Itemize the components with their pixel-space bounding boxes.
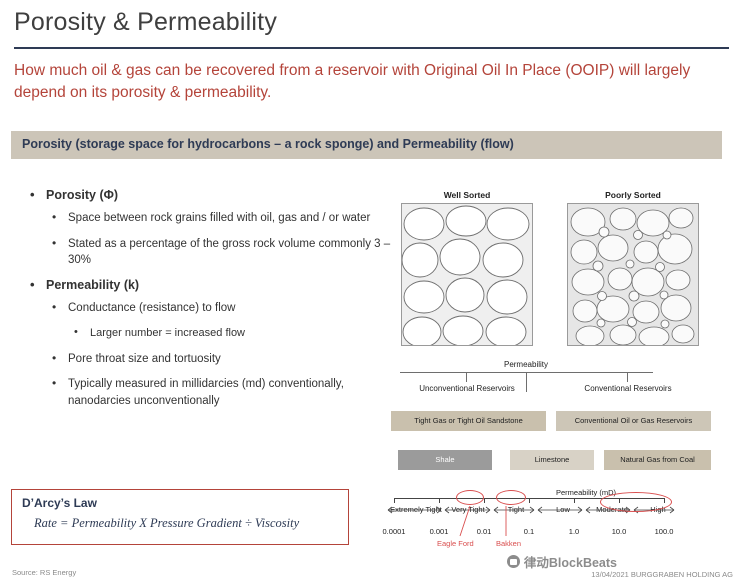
scale-number: 10.0 bbox=[601, 527, 637, 536]
slide-root: Porosity & Permeability How much oil & g… bbox=[0, 0, 743, 583]
bullet-item: Larger number = increased flow bbox=[22, 326, 392, 342]
unconventional-reservoirs-label: Unconventional Reservoirs bbox=[401, 384, 533, 393]
poorly-sorted-label: Poorly Sorted bbox=[566, 190, 700, 200]
bullet-item: Permeability (k) bbox=[22, 278, 392, 292]
chip-conventional-reservoirs: Conventional Oil or Gas Reservoirs bbox=[556, 411, 711, 431]
chip-tight-gas-sandstone: Tight Gas or Tight Oil Sandstone bbox=[391, 411, 546, 431]
darcy-law-box: D’Arcy’s Law Rate = Permeability X Press… bbox=[11, 489, 349, 545]
conventional-reservoirs-label: Conventional Reservoirs bbox=[562, 384, 694, 393]
scale-number: 100.0 bbox=[646, 527, 682, 536]
source-note: Source: RS Energy bbox=[12, 568, 76, 577]
permeability-diagram-title: Permeability bbox=[486, 360, 566, 369]
high-permeability-highlight bbox=[600, 492, 672, 512]
darcy-law-equation: Rate = Permeability X Pressure Gradient … bbox=[34, 516, 299, 531]
bullet-list: Porosity (Φ) Space between rock grains f… bbox=[22, 188, 392, 419]
footer-note: 13/04/2021 BURGGRABEN HOLDING AG bbox=[591, 570, 733, 579]
permeability-divider-horizontal bbox=[400, 372, 653, 373]
chip-limestone: Limestone bbox=[510, 450, 594, 470]
bullet-item: Pore throat size and tortuosity bbox=[22, 351, 392, 368]
unconventional-connector bbox=[466, 372, 467, 382]
bullet-item: Porosity (Φ) bbox=[22, 188, 392, 202]
watermark-logo-icon bbox=[507, 555, 520, 568]
section-band-label: Porosity (storage space for hydrocarbons… bbox=[22, 137, 514, 151]
bullet-item: Typically measured in millidarcies (md) … bbox=[22, 376, 392, 409]
eagle-ford-highlight bbox=[456, 490, 484, 505]
well-sorted-label: Well Sorted bbox=[400, 190, 534, 200]
bullet-item: Space between rock grains filled with oi… bbox=[22, 210, 392, 227]
darcy-law-title: D’Arcy’s Law bbox=[22, 496, 97, 510]
conventional-connector bbox=[627, 372, 628, 382]
bullet-item: Stated as a percentage of the gross rock… bbox=[22, 236, 392, 269]
poorly-sorted-image bbox=[567, 203, 699, 346]
watermark: 律动BlockBeats bbox=[507, 552, 617, 571]
subtitle-text: How much oil & gas can be recovered from… bbox=[14, 60, 714, 105]
chip-natural-gas-from-coal: Natural Gas from Coal bbox=[604, 450, 711, 470]
scale-number: 1.0 bbox=[558, 527, 590, 536]
watermark-text: 律动BlockBeats bbox=[524, 552, 617, 571]
chip-shale: Shale bbox=[398, 450, 492, 470]
page-title: Porosity & Permeability bbox=[14, 8, 277, 37]
bullet-item: Conductance (resistance) to flow bbox=[22, 300, 392, 317]
title-divider bbox=[14, 47, 729, 49]
scale-number: 0.0001 bbox=[372, 527, 416, 536]
bakken-highlight bbox=[496, 490, 526, 505]
well-sorted-image bbox=[401, 203, 533, 346]
annotation-leaders bbox=[432, 506, 542, 542]
